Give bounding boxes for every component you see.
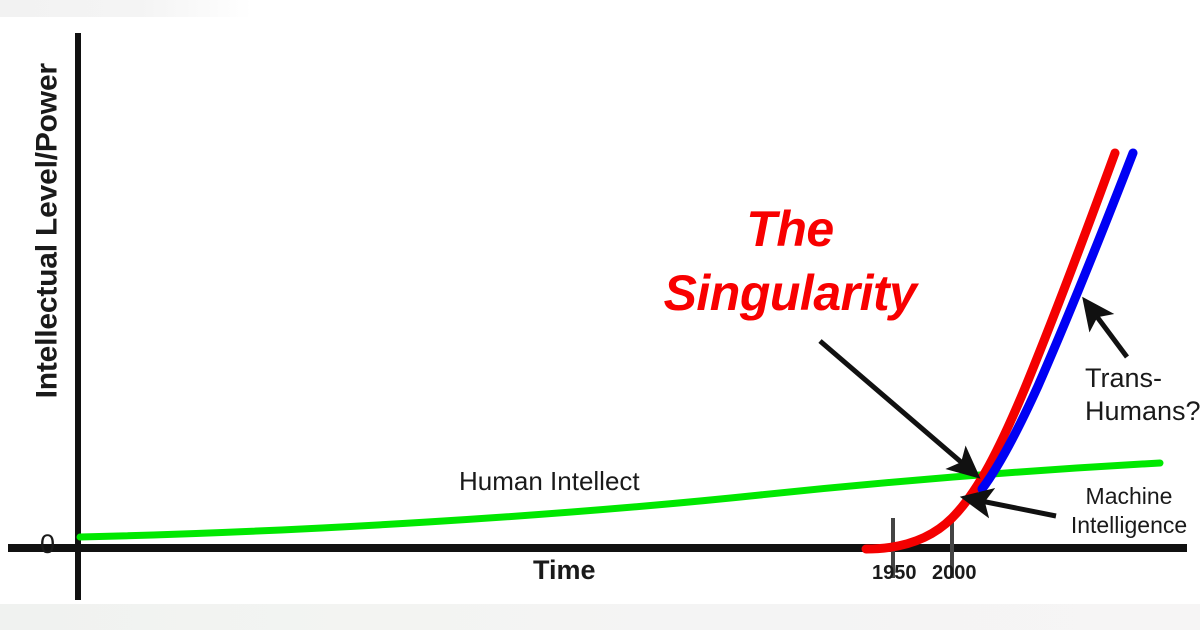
series-label-trans-humans: Trans- Humans?	[1085, 362, 1200, 428]
y-axis-zero-tick-label: 0	[40, 530, 55, 558]
singularity-arrow	[820, 341, 968, 468]
series-label-human-intellect: Human Intellect	[459, 468, 640, 495]
y-axis-label: Intellectual Level/Power	[31, 11, 63, 451]
x-tick-label-1950: 1950	[872, 562, 917, 585]
chart-plot-area	[0, 0, 1200, 630]
chart-canvas: Intellectual Level/Power 0 Time The Sing…	[0, 0, 1200, 630]
chart-title-singularity: The Singularity	[610, 197, 970, 325]
x-axis-label: Time	[533, 556, 596, 584]
trans-humans-arrow	[1092, 310, 1127, 357]
series-label-machine-intelligence: Machine Intelligence	[1059, 482, 1199, 540]
x-tick-label-2000: 2000	[932, 562, 977, 585]
machine-intelligence-arrow	[976, 500, 1056, 516]
